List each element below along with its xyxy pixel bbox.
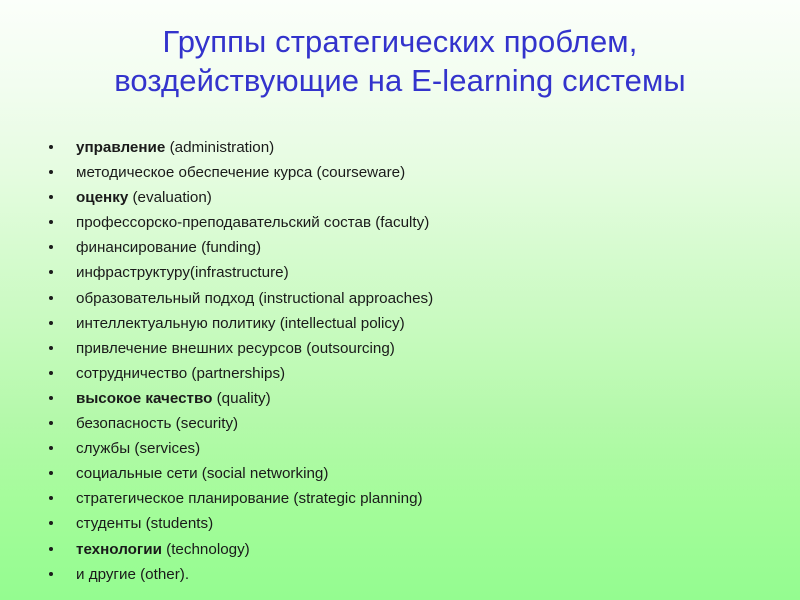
bullet-point-icon <box>49 321 53 325</box>
list-item: оценку (evaluation) <box>44 185 784 210</box>
presentation-slide: Группы стратегических проблем, воздейств… <box>0 0 800 600</box>
slide-title-line-2: воздействующие на E-learning системы <box>40 61 760 100</box>
list-item-gloss: (instructional approaches) <box>254 290 433 307</box>
list-item-gloss: (funding) <box>197 239 261 256</box>
list-item-gloss: (quality) <box>212 390 270 407</box>
bullet-point-icon <box>49 270 53 274</box>
bullet-point-icon <box>49 396 53 400</box>
bullet-point-icon <box>49 170 53 174</box>
list-item-gloss: (faculty) <box>371 214 429 231</box>
list-item: образовательный подход (instructional ap… <box>44 286 784 311</box>
list-item-term: финансирование <box>76 239 197 256</box>
bullet-point-icon <box>49 145 53 149</box>
list-item: стратегическое планирование (strategic p… <box>44 486 784 511</box>
list-item-term: профессорско-преподавательский состав <box>76 214 371 231</box>
list-item: привлечение внешних ресурсов (outsourcin… <box>44 336 784 361</box>
list-item: методическое обеспечение курса (coursewa… <box>44 160 784 185</box>
list-item-term: сотрудничество <box>76 365 187 382</box>
list-item: сотрудничество (partnerships) <box>44 361 784 386</box>
list-item: социальные сети (social networking) <box>44 461 784 486</box>
list-item-gloss: (evaluation) <box>128 189 212 206</box>
list-item-gloss: (strategic planning) <box>289 490 422 507</box>
list-item-term: инфраструктуру <box>76 264 190 281</box>
list-item: инфраструктуру(infrastructure) <box>44 260 784 285</box>
bullet-point-icon <box>49 296 53 300</box>
list-item-term: социальные сети <box>76 465 198 482</box>
list-item-gloss: (other). <box>136 566 189 583</box>
list-item-term: службы <box>76 440 130 457</box>
bullet-point-icon <box>49 220 53 224</box>
list-item-term: интеллектуальную политику <box>76 315 275 332</box>
list-item-gloss: (services) <box>130 440 200 457</box>
list-item-term: высокое качество <box>76 390 212 407</box>
list-item-gloss: (technology) <box>162 541 250 558</box>
bullet-point-icon <box>49 446 53 450</box>
list-item-term: и другие <box>76 566 136 583</box>
bullet-point-icon <box>49 471 53 475</box>
list-item-term: привлечение внешних ресурсов <box>76 340 302 357</box>
list-item-term: безопасность <box>76 415 171 432</box>
list-item: управление (administration) <box>44 135 784 160</box>
list-item: финансирование (funding) <box>44 235 784 260</box>
slide-title-line-1: Группы стратегических проблем, <box>40 22 760 61</box>
list-item-term: управление <box>76 139 165 156</box>
list-item: службы (services) <box>44 436 784 461</box>
bullet-point-icon <box>49 521 53 525</box>
bullet-point-icon <box>49 547 53 551</box>
list-item-term: образовательный подход <box>76 290 254 307</box>
list-item-gloss: (courseware) <box>312 164 405 181</box>
list-item-term: методическое обеспечение курса <box>76 164 312 181</box>
list-item-term: студенты <box>76 515 141 532</box>
list-item-term: стратегическое планирование <box>76 490 289 507</box>
bullet-point-icon <box>49 421 53 425</box>
bullet-point-icon <box>49 195 53 199</box>
bullet-point-icon <box>49 371 53 375</box>
list-item-term: оценку <box>76 189 128 206</box>
list-item-gloss: (security) <box>171 415 238 432</box>
list-item-gloss: (infrastructure) <box>190 264 289 281</box>
list-item: высокое качество (quality) <box>44 386 784 411</box>
bullet-point-icon <box>49 245 53 249</box>
list-item-gloss: (partnerships) <box>187 365 285 382</box>
bullet-point-icon <box>49 572 53 576</box>
bullet-point-icon <box>49 346 53 350</box>
list-item: технологии (technology) <box>44 537 784 562</box>
list-item: безопасность (security) <box>44 411 784 436</box>
list-item-gloss: (administration) <box>165 139 274 156</box>
list-item: студенты (students) <box>44 511 784 536</box>
list-item: профессорско-преподавательский состав (f… <box>44 210 784 235</box>
list-item-gloss: (outsourcing) <box>302 340 395 357</box>
list-item-gloss: (social networking) <box>198 465 329 482</box>
list-item-gloss: (intellectual policy) <box>275 315 404 332</box>
bullet-point-icon <box>49 496 53 500</box>
list-item: и другие (other). <box>44 562 784 587</box>
list-item-gloss: (students) <box>141 515 213 532</box>
strategic-issues-list: управление (administration)методическое … <box>44 135 784 587</box>
list-item: интеллектуальную политику (intellectual … <box>44 311 784 336</box>
list-item-term: технологии <box>76 541 162 558</box>
slide-title: Группы стратегических проблем, воздейств… <box>40 22 760 100</box>
